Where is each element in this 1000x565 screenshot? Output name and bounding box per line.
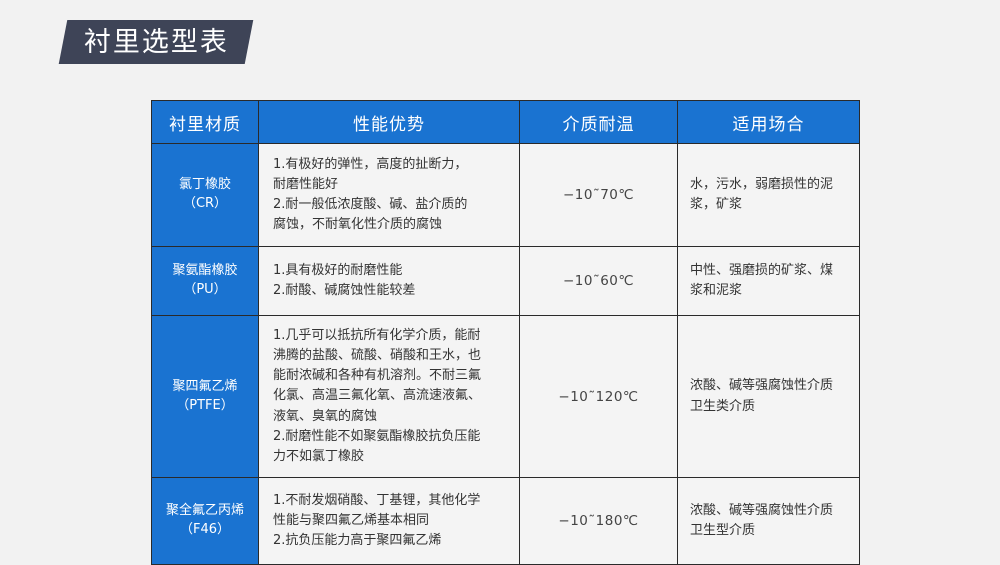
column-header-performance: 性能优势 bbox=[259, 101, 520, 144]
material-abbr: （CR） bbox=[154, 195, 256, 214]
material-name: 聚四氟乙烯 bbox=[172, 379, 237, 394]
cell-usage: 中性、强磨损的矿浆、煤 浆和泥浆 bbox=[678, 247, 860, 316]
page-title: 衬里选型表 bbox=[84, 29, 229, 56]
cell-performance: 1.具有极好的耐磨性能 2.耐酸、碱腐蚀性能较差 bbox=[259, 247, 520, 316]
material-abbr: （PTFE） bbox=[154, 397, 256, 416]
table-header-row: 衬里材质 性能优势 介质耐温 适用场合 bbox=[152, 101, 860, 144]
cell-material: 聚全氟乙丙烯 （F46） bbox=[152, 478, 259, 565]
cell-usage: 浓酸、碱等强腐蚀性介质 卫生类介质 bbox=[678, 316, 860, 478]
cell-material: 聚四氟乙烯 （PTFE） bbox=[152, 316, 259, 478]
column-header-material: 衬里材质 bbox=[152, 101, 259, 144]
column-header-usage: 适用场合 bbox=[678, 101, 860, 144]
cell-usage: 水，污水，弱磨损性的泥 浆，矿浆 bbox=[678, 144, 860, 247]
page-title-banner: 衬里选型表 bbox=[59, 20, 254, 64]
material-name: 氯丁橡胶 bbox=[179, 177, 231, 192]
cell-performance: 1.几乎可以抵抗所有化学介质，能耐 沸腾的盐酸、硫酸、硝酸和王水，也 能耐浓碱和… bbox=[259, 316, 520, 478]
cell-temperature: −10˜60℃ bbox=[520, 247, 678, 316]
column-header-temperature: 介质耐温 bbox=[520, 101, 678, 144]
cell-material: 氯丁橡胶 （CR） bbox=[152, 144, 259, 247]
cell-temperature: −10˜120℃ bbox=[520, 316, 678, 478]
table-row: 聚全氟乙丙烯 （F46） 1.不耐发烟硝酸、丁基锂，其他化学 性能与聚四氟乙烯基… bbox=[152, 478, 860, 565]
material-abbr: （PU） bbox=[154, 281, 256, 300]
cell-performance: 1.不耐发烟硝酸、丁基锂，其他化学 性能与聚四氟乙烯基本相同 2.抗负压能力高于… bbox=[259, 478, 520, 565]
cell-temperature: −10˜180℃ bbox=[520, 478, 678, 565]
material-name: 聚全氟乙丙烯 bbox=[166, 503, 244, 518]
material-abbr: （F46） bbox=[154, 521, 256, 540]
table-body: 氯丁橡胶 （CR） 1.有极好的弹性，高度的扯断力， 耐磨性能好 2.耐一般低浓… bbox=[152, 144, 860, 565]
cell-usage: 浓酸、碱等强腐蚀性介质 卫生型介质 bbox=[678, 478, 860, 565]
table-row: 聚氨酯橡胶 （PU） 1.具有极好的耐磨性能 2.耐酸、碱腐蚀性能较差 −10˜… bbox=[152, 247, 860, 316]
lining-selection-table: 衬里材质 性能优势 介质耐温 适用场合 氯丁橡胶 （CR） 1.有极好的弹性，高… bbox=[151, 100, 860, 565]
cell-material: 聚氨酯橡胶 （PU） bbox=[152, 247, 259, 316]
table-row: 氯丁橡胶 （CR） 1.有极好的弹性，高度的扯断力， 耐磨性能好 2.耐一般低浓… bbox=[152, 144, 860, 247]
cell-temperature: −10˜70℃ bbox=[520, 144, 678, 247]
cell-performance: 1.有极好的弹性，高度的扯断力， 耐磨性能好 2.耐一般低浓度酸、碱、盐介质的 … bbox=[259, 144, 520, 247]
table-row: 聚四氟乙烯 （PTFE） 1.几乎可以抵抗所有化学介质，能耐 沸腾的盐酸、硫酸、… bbox=[152, 316, 860, 478]
material-name: 聚氨酯橡胶 bbox=[172, 263, 237, 278]
